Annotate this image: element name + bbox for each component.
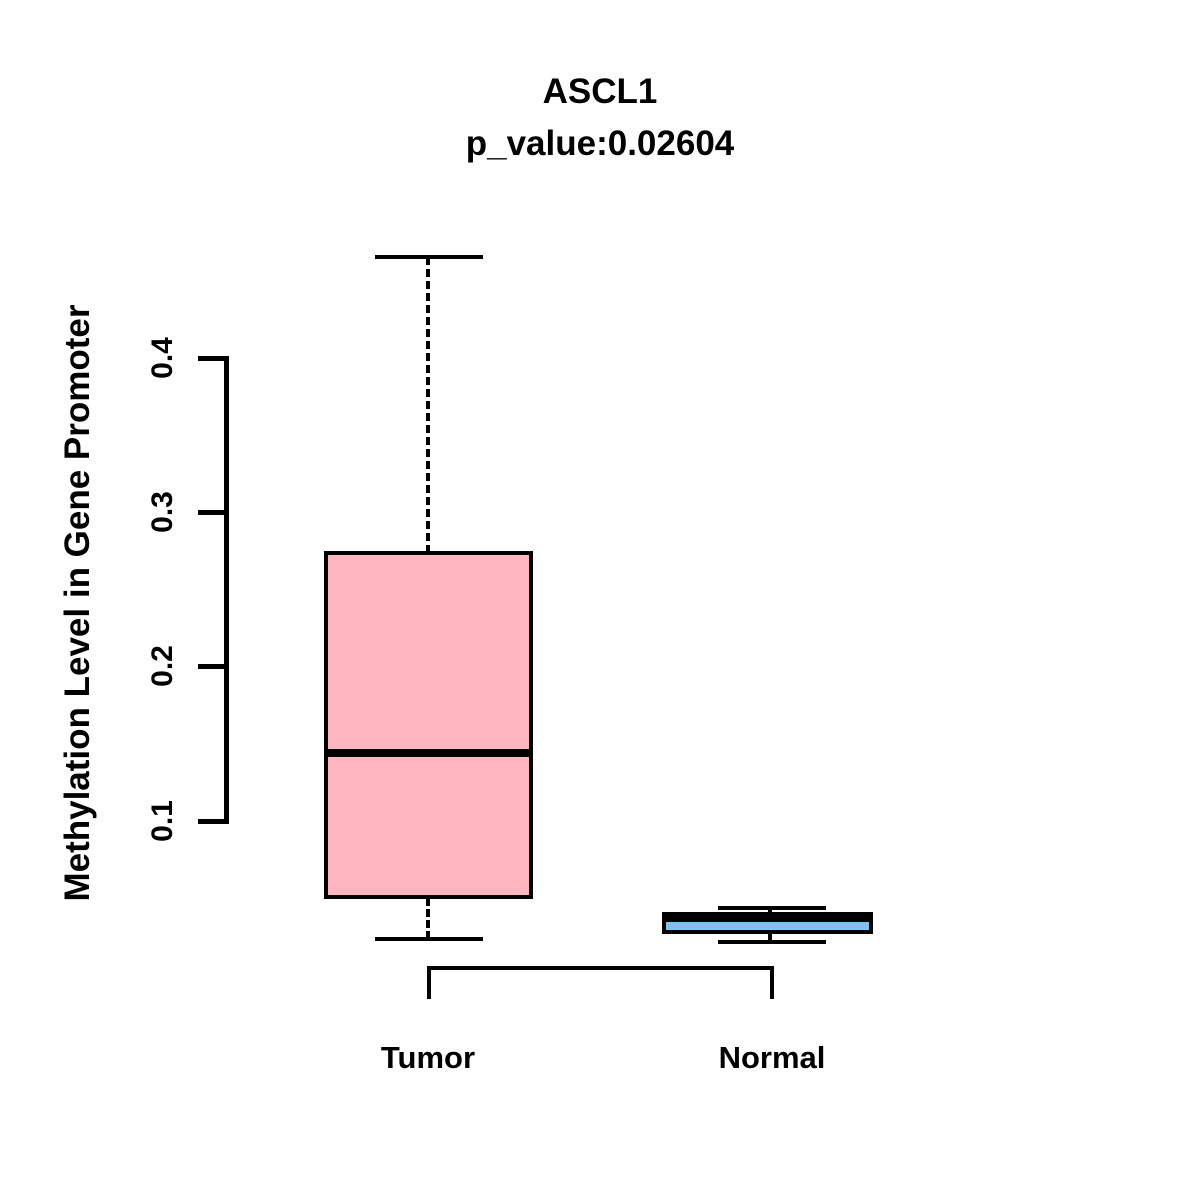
x-axis-tick-normal [770,966,774,999]
x-axis-ticklabel-normal: Normal [672,1040,872,1076]
x-axis-line [427,966,774,970]
boxplot-figure: ASCL1 p_value:0.02604 Methylation Level … [0,0,1200,1200]
y-axis-ticklabel-0.3: 0.3 [145,472,181,552]
normal-median-line [662,913,873,922]
y-axis-ticklabel-0.1: 0.1 [145,781,181,861]
y-axis-ticklabel-0.2: 0.2 [145,626,181,706]
y-axis-tick-0.3 [198,510,229,515]
chart-title: ASCL1 [0,66,1200,118]
tumor-median-line [324,749,533,757]
normal-lower-whisker-cap [718,940,826,944]
y-axis-ticklabel-0.4: 0.4 [145,318,181,398]
tumor-lower-whisker-cap [375,937,483,941]
x-axis-tick-tumor [427,966,431,999]
x-axis-ticklabel-tumor: Tumor [328,1040,528,1076]
tumor-box [324,551,533,899]
tumor-upper-whisker [426,257,430,553]
tumor-lower-whisker [426,898,430,939]
y-axis-tick-0.2 [198,664,229,669]
y-axis-tick-0.1 [198,819,229,824]
normal-upper-whisker-cap [718,906,826,910]
y-axis-title: Methylation Level in Gene Promoter [50,183,106,1023]
chart-subtitle-pvalue: p_value:0.02604 [0,118,1200,170]
y-axis-tick-0.4 [198,356,229,361]
title-block: ASCL1 p_value:0.02604 [0,66,1200,170]
y-axis-spine [224,356,229,824]
